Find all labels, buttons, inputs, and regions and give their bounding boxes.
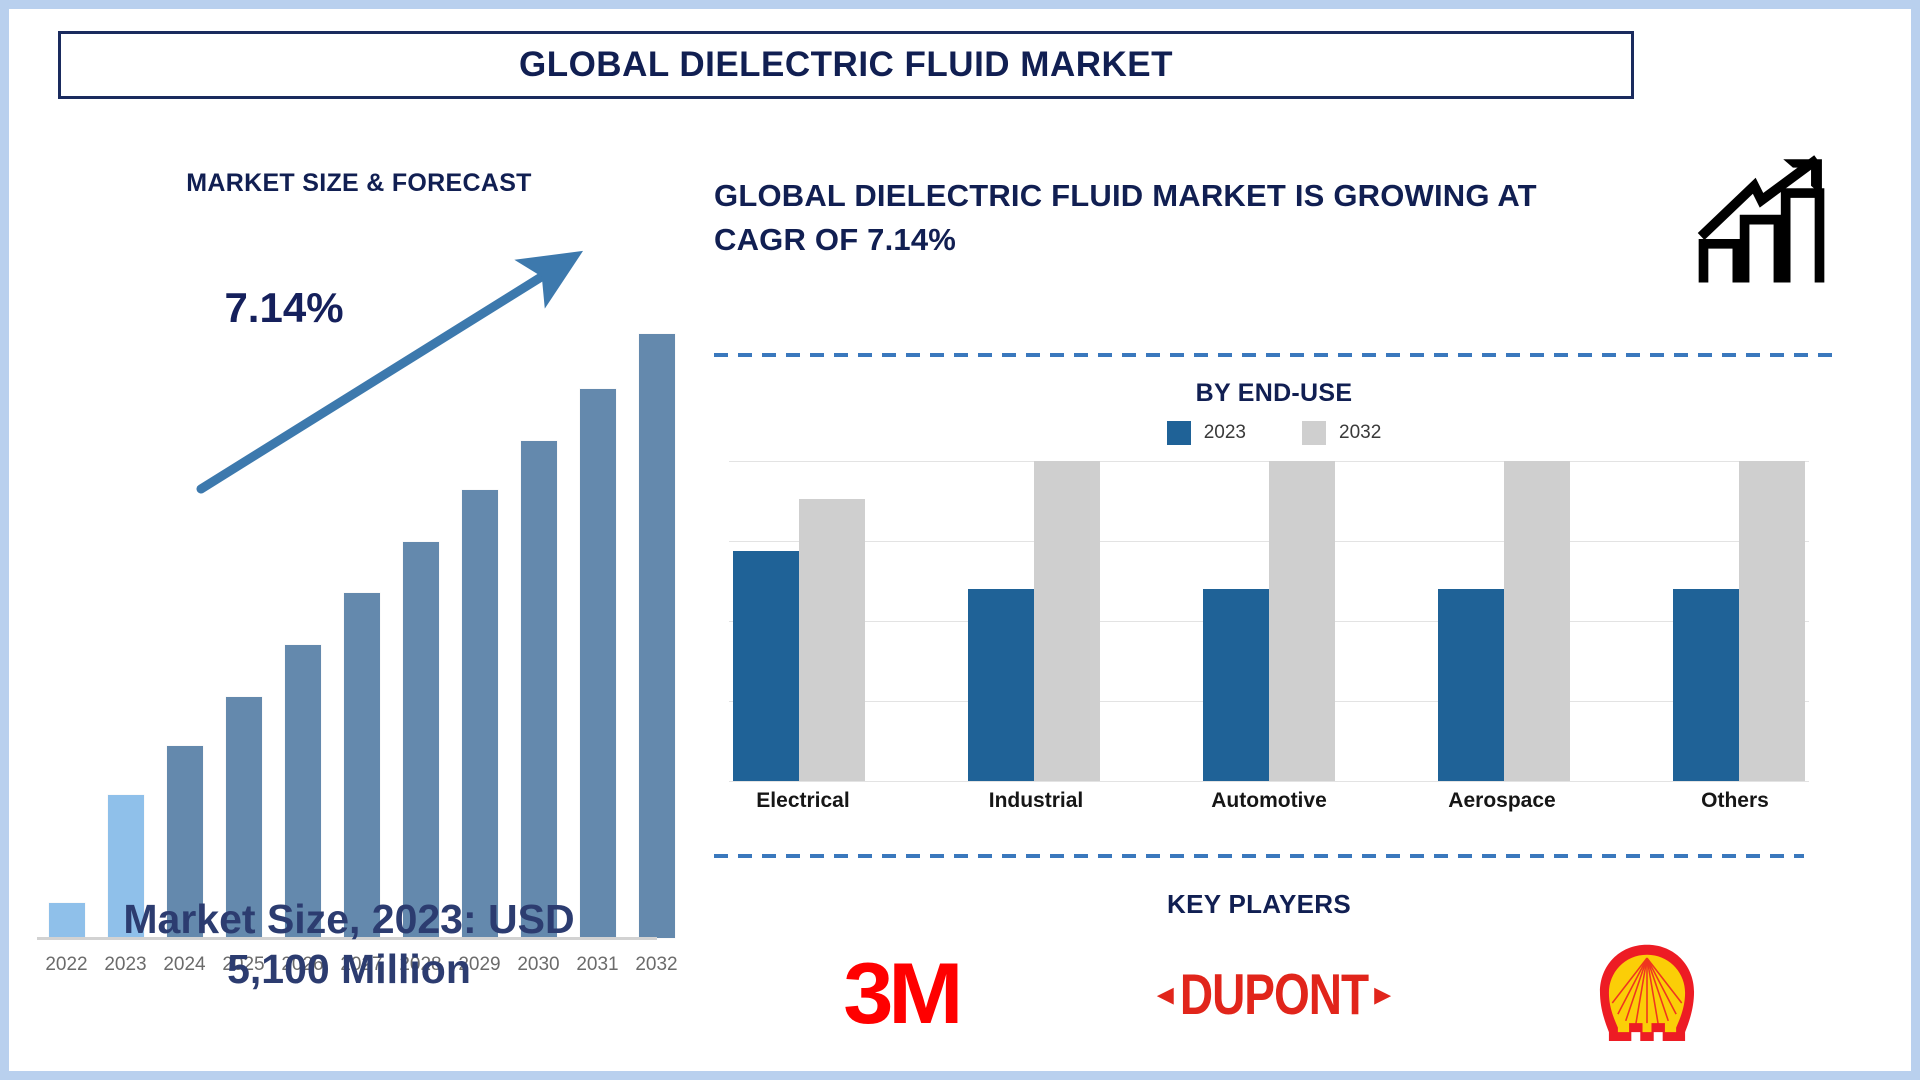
left-panel: MARKET SIZE & FORECAST 7.14% — [9, 129, 709, 1079]
legend-swatch-2023 — [1167, 421, 1191, 445]
bar-2027 — [344, 593, 380, 938]
player-shell — [1507, 932, 1787, 1057]
market-forecast-bar-chart: 2022 2023 2024 2025 2026 2027 2028 2029 … — [37, 324, 687, 964]
divider-top — [714, 353, 1834, 357]
infographic-page: GLOBAL DIELECTRIC FLUID MARKET MARKET SI… — [0, 0, 1920, 1080]
player-dupont: ◂ DUPONT ▸ — [1134, 932, 1414, 1057]
legend-item-2023: 2023 — [1167, 421, 1246, 445]
bar-column-2022 — [37, 328, 96, 938]
dupont-right-caret-icon: ▸ — [1374, 974, 1391, 1014]
title-banner: GLOBAL DIELECTRIC FLUID MARKET — [58, 31, 1634, 99]
bar-2031 — [580, 389, 616, 938]
bar-others-2023 — [1673, 589, 1739, 781]
key-players-logos: 3M ◂ DUPONT ▸ — [714, 929, 1834, 1059]
page-title: GLOBAL DIELECTRIC FLUID MARKET — [519, 45, 1173, 85]
3m-logo: 3M — [843, 951, 958, 1037]
left-chart-bars — [37, 328, 687, 938]
bar-2029 — [462, 490, 498, 938]
bar-column-2029 — [450, 328, 509, 938]
legend-label-2032: 2032 — [1339, 422, 1381, 444]
chart-legend: 2023 2032 — [714, 421, 1834, 445]
gridline — [729, 781, 1809, 782]
bar-others-2032 — [1739, 461, 1805, 781]
bar-aerospace-2023 — [1438, 589, 1504, 781]
category-label-industrial: Industrial — [966, 789, 1106, 813]
bar-group-automotive — [1203, 461, 1335, 781]
dupont-wordmark: DUPONT — [1180, 960, 1368, 1028]
legend-item-2032: 2032 — [1302, 421, 1381, 445]
right-panel: GLOBAL DIELECTRIC FLUID MARKET IS GROWIN… — [709, 129, 1909, 1079]
dupont-logo: ◂ DUPONT ▸ — [1157, 967, 1391, 1021]
market-size-caption: Market Size, 2023: USD 5,100 Million — [29, 894, 669, 994]
market-size-line-1: Market Size, 2023: USD — [123, 896, 574, 942]
bar-column-2032 — [627, 328, 686, 938]
bar-column-2030 — [509, 328, 568, 938]
bar-electrical-2023 — [733, 551, 799, 781]
dupont-left-caret-icon: ◂ — [1157, 974, 1174, 1014]
bar-automotive-2032 — [1269, 461, 1335, 781]
legend-swatch-2032 — [1302, 421, 1326, 445]
bar-group-others — [1673, 461, 1805, 781]
key-players-heading: KEY PLAYERS — [714, 889, 1804, 920]
bar-industrial-2032 — [1034, 461, 1100, 781]
bar-2032 — [639, 334, 675, 938]
bar-column-2024 — [155, 328, 214, 938]
shell-logo — [1591, 938, 1703, 1050]
divider-bottom — [714, 854, 1804, 858]
bar-column-2027 — [332, 328, 391, 938]
category-label-electrical: Electrical — [733, 789, 873, 813]
category-label-aerospace: Aerospace — [1432, 789, 1572, 813]
end-use-bar-chart — [729, 461, 1809, 781]
end-use-category-labels: Electrical Industrial Automotive Aerospa… — [729, 789, 1809, 813]
bar-group-electrical — [733, 461, 865, 781]
bar-column-2023 — [96, 328, 155, 938]
bar-column-2028 — [391, 328, 450, 938]
bar-column-2031 — [568, 328, 627, 938]
bar-aerospace-2032 — [1504, 461, 1570, 781]
infographic-canvas: GLOBAL DIELECTRIC FLUID MARKET MARKET SI… — [9, 9, 1911, 1071]
bar-column-2026 — [273, 328, 332, 938]
bar-group-aerospace — [1438, 461, 1570, 781]
market-size-forecast-heading: MARKET SIZE & FORECAST — [9, 169, 709, 198]
bar-2030 — [521, 441, 557, 938]
category-label-automotive: Automotive — [1199, 789, 1339, 813]
bar-automotive-2023 — [1203, 589, 1269, 781]
by-end-use-heading: BY END-USE — [714, 379, 1834, 408]
bar-2028 — [403, 542, 439, 939]
market-size-line-2: 5,100 Million — [227, 946, 471, 992]
bar-group-industrial — [968, 461, 1100, 781]
cagr-headline: GLOBAL DIELECTRIC FLUID MARKET IS GROWIN… — [714, 174, 1594, 262]
bar-column-2025 — [214, 328, 273, 938]
player-3m: 3M — [761, 932, 1041, 1057]
legend-label-2023: 2023 — [1204, 422, 1246, 444]
bar-industrial-2023 — [968, 589, 1034, 781]
end-use-bar-groups — [729, 461, 1809, 781]
growth-bar-chart-icon — [1689, 149, 1834, 289]
bar-electrical-2032 — [799, 499, 865, 781]
category-label-others: Others — [1665, 789, 1805, 813]
